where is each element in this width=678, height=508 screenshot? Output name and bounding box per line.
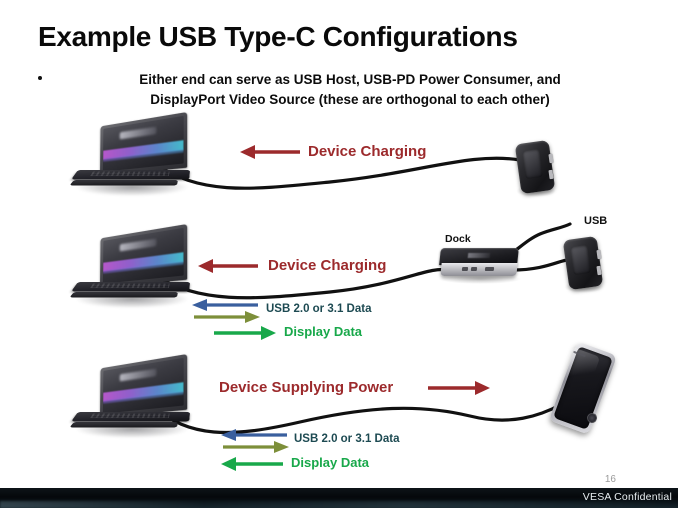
device-charging-arrow-left-icon <box>240 143 302 161</box>
laptop-device <box>74 126 192 200</box>
usb-data-label: USB 2.0 or 3.1 Data <box>266 304 371 316</box>
display-data-label: Display Data <box>284 325 362 338</box>
usb-data-label: USB 2.0 or 3.1 Data <box>294 434 399 446</box>
device-charging-label: Device Charging <box>308 144 426 159</box>
laptop-keyboard-base <box>71 170 190 179</box>
laptop-display-glass <box>103 358 184 414</box>
bullet-block: Either end can serve as USB Host, USB-PD… <box>34 70 644 109</box>
dock-bottom-shell <box>440 263 517 276</box>
phone-device <box>556 344 610 436</box>
dock-label: Dock <box>445 234 471 245</box>
wall-adapter-device <box>564 236 604 292</box>
diagram-row-laptop-to-charger: Device Charging <box>0 118 678 218</box>
display-data-arrow-left-icon <box>221 455 283 473</box>
diagram-row-laptop-to-phone: Device Supplying Power USB 2.0 or 3.1 Da… <box>0 342 678 467</box>
device-charging-arrow-left-icon <box>198 257 260 275</box>
dock-port-icon <box>471 267 477 271</box>
device-charging-label: Device Charging <box>268 258 386 273</box>
display-data-arrow-right-icon <box>214 324 276 342</box>
laptop-keys <box>90 414 170 418</box>
adapter-prong-icon <box>548 154 553 163</box>
laptop-display-glass <box>103 116 184 172</box>
page-title: Example USB Type-C Configurations <box>38 22 638 53</box>
laptop-screen-logo <box>119 127 156 140</box>
laptop-keys <box>90 284 170 288</box>
bullet-line-2: DisplayPort Video Source (these are orth… <box>56 90 644 110</box>
device-supplying-power-arrow-right-icon <box>428 379 490 397</box>
device-supplying-power-label: Device Supplying Power <box>219 380 393 395</box>
footer-sheen <box>0 501 678 508</box>
laptop-keys <box>90 172 170 176</box>
page-number: 16 <box>605 474 616 485</box>
dock-device <box>440 248 518 282</box>
bullet-line-1: Either end can serve as USB Host, USB-PD… <box>139 72 561 87</box>
footer-confidential-label: VESA Confidential <box>583 491 672 503</box>
laptop-keyboard-base <box>71 412 190 421</box>
laptop-device <box>74 238 192 312</box>
slide-canvas: Example USB Type-C Configurations Either… <box>0 0 678 508</box>
laptop-base-foot <box>69 180 178 185</box>
adapter-prong-icon <box>596 250 601 259</box>
bullet-text: Either end can serve as USB Host, USB-PD… <box>56 70 644 109</box>
usb-data-bidirectional-arrow-icon <box>221 428 289 454</box>
display-data-label: Display Data <box>291 456 369 469</box>
dock-brand-mark <box>468 253 491 258</box>
usb-data-bidirectional-arrow-icon <box>192 298 260 324</box>
usb-port-label: USB <box>584 216 607 227</box>
bullet-marker-icon <box>38 76 42 80</box>
footer-bar: VESA Confidential <box>0 488 678 508</box>
laptop-display-glass <box>103 228 184 284</box>
wall-adapter-device <box>516 140 556 196</box>
laptop-keyboard-base <box>71 282 190 291</box>
diagram-row-laptop-dock-charger: Dock USB Device Charging USB 2.0 or 3.1 … <box>0 212 678 340</box>
laptop-screen-logo <box>119 239 156 252</box>
dock-port-icon <box>462 267 468 271</box>
laptop-base-foot <box>69 422 178 427</box>
laptop-screen-logo <box>119 369 156 382</box>
laptop-device <box>74 368 192 442</box>
laptop-base-foot <box>69 292 178 297</box>
dock-port-icon <box>485 267 494 271</box>
